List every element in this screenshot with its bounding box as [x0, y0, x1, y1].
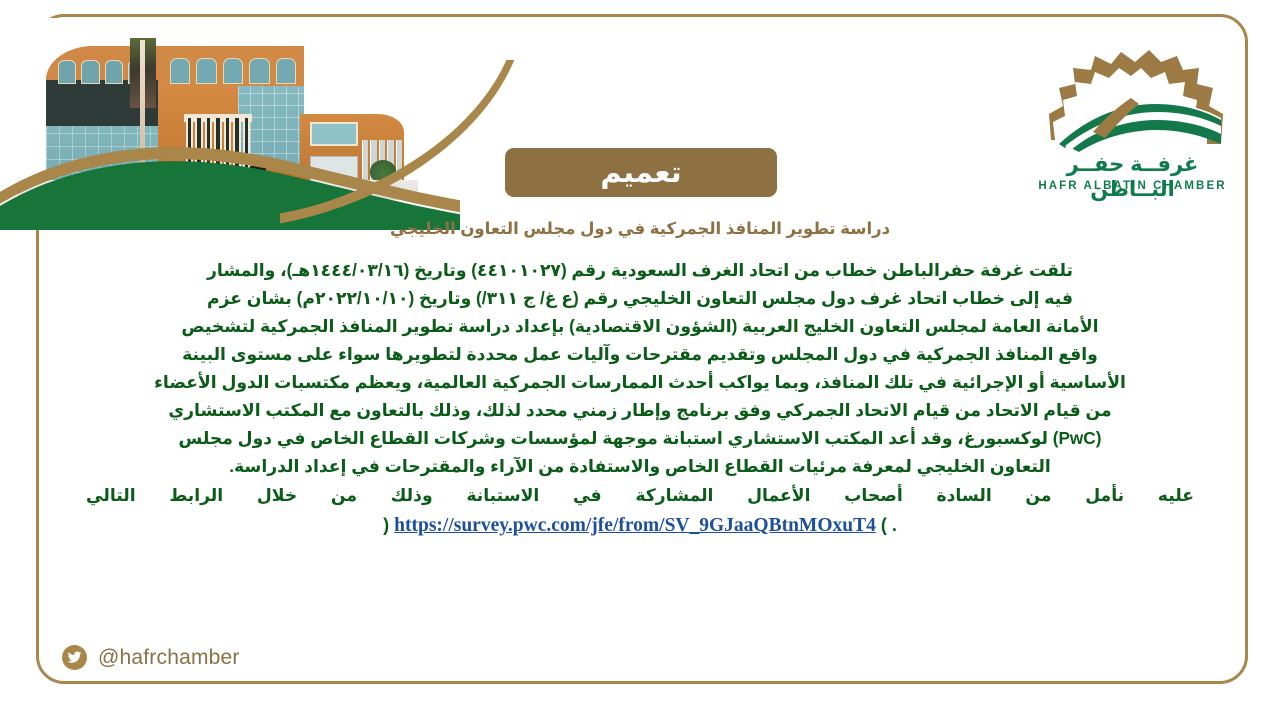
body-closing-line: عليه نأمل من السادة أصحاب الأعمال المشار… — [86, 481, 1194, 509]
logo-arabic-name: غرفــة حفــر البــاطن — [1035, 152, 1230, 202]
body-line: واقع المنافذ الجمركية في دول المجلس وتقد… — [86, 340, 1194, 368]
link-close-paren: ( . — [881, 515, 897, 535]
body-line: الأساسية أو الإجرائية في تلك المنافذ، وب… — [86, 368, 1194, 396]
body-line: الأمانة العامة لمجلس التعاون الخليج العر… — [86, 312, 1194, 340]
street-object — [250, 166, 266, 186]
link-open-paren: ) — [383, 515, 389, 535]
building-arched-windows — [170, 58, 296, 84]
body-line: من قيام الاتحاد من قيام الاتحاد الجمركي … — [86, 396, 1194, 424]
social-footer: @hafrchamber — [62, 645, 240, 670]
chamber-logo: غرفــة حفــر البــاطن HAFR ALBATIN CHAMB… — [1035, 44, 1230, 204]
document-body: تلقت غرفة حفرالباطن خطاب من اتحاد الغرف … — [86, 256, 1194, 540]
body-line: فيه إلى خطاب اتحاد غرف دول مجلس التعاون … — [86, 284, 1194, 312]
shrub — [370, 160, 396, 182]
document-subject-title: دراسة تطوير المنافذ الجمركية في دول مجلس… — [0, 219, 1280, 239]
logo-crown-mark-icon — [1035, 44, 1230, 154]
body-line: (PwC) لوكسبورغ، وقد أعد المكتب الاستشاري… — [86, 424, 1194, 452]
building-illustration — [18, 18, 418, 178]
building-colonnade — [186, 118, 250, 186]
social-handle-label: @hafrchamber — [98, 646, 240, 670]
circular-document: غرفــة حفــر البــاطن HAFR ALBATIN CHAMB… — [0, 0, 1280, 720]
twitter-icon[interactable] — [62, 645, 87, 670]
chamber-building-photo — [0, 0, 430, 200]
flagpole — [140, 40, 145, 190]
survey-link[interactable]: https://survey.pwc.com/jfe/from/SV_9GJaa… — [394, 515, 876, 536]
logo-english-name: HAFR ALBATIN CHAMBER — [1035, 180, 1230, 192]
circular-type-banner: تعميم — [505, 148, 777, 197]
building-right-window — [310, 122, 358, 146]
ground-plaza — [18, 180, 418, 200]
body-line: التعاون الخليجي لمعرفة مرئيات القطاع الخ… — [86, 452, 1194, 480]
body-line: تلقت غرفة حفرالباطن خطاب من اتحاد الغرف … — [86, 256, 1194, 284]
survey-link-line: ) https://survey.pwc.com/jfe/from/SV_9GJ… — [86, 511, 1194, 540]
